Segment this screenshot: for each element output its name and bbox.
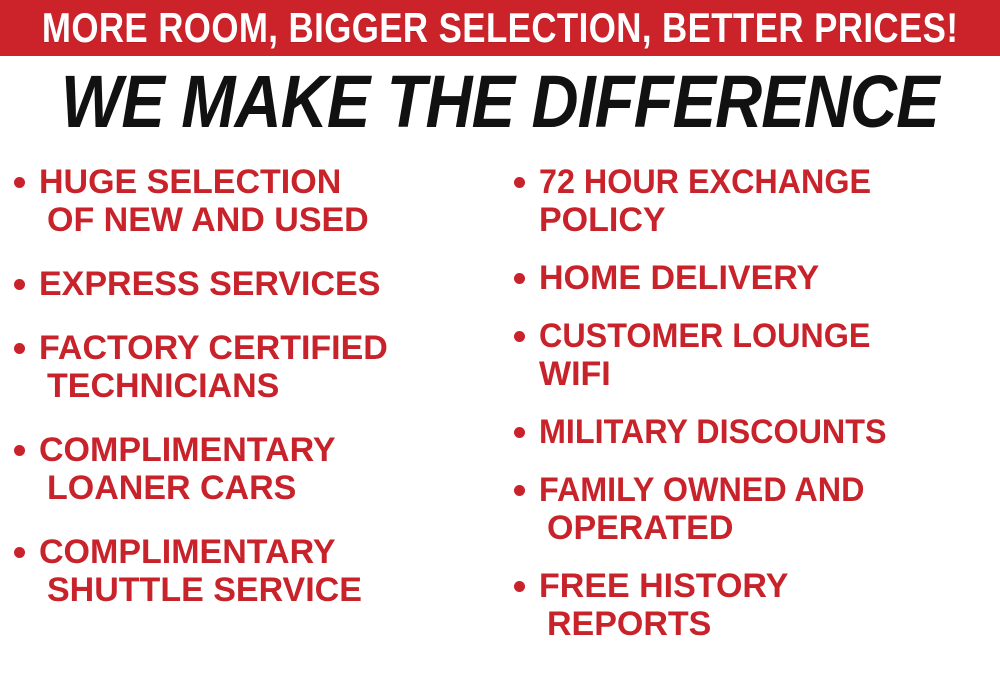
list-item: EXPRESS SERVICES (14, 265, 500, 303)
list-item-text: HOME DELIVERY (539, 259, 819, 297)
promo-banner: MORE ROOM, BIGGER SELECTION, BETTER PRIC… (0, 0, 1000, 56)
list-item-line-2: WIFI (539, 355, 888, 393)
list-item-line-2: REPORTS (539, 605, 788, 643)
list-item: FREE HISTORY REPORTS (514, 567, 1000, 643)
benefits-column-right: 72 HOUR EXCHANGE POLICY HOME DELIVERY CU… (500, 155, 1000, 694)
page-title: WE MAKE THE DIFFERENCE (61, 65, 939, 139)
bullet-dot-icon (514, 177, 525, 188)
list-item: COMPLIMENTARY LOANER CARS (14, 431, 500, 507)
list-item-line-2: OPERATED (539, 509, 882, 547)
list-item-text: FAMILY OWNED AND OPERATED (539, 471, 882, 547)
list-item: HUGE SELECTION OF NEW AND USED (14, 163, 500, 239)
list-item-text: MILITARY DISCOUNTS (539, 413, 905, 451)
list-item-text: EXPRESS SERVICES (39, 265, 380, 303)
list-item-line-2: OF NEW AND USED (39, 201, 369, 239)
bullet-dot-icon (14, 279, 25, 290)
list-item: 72 HOUR EXCHANGE POLICY (514, 163, 1000, 239)
bullet-dot-icon (14, 177, 25, 188)
list-item-line-1: HUGE SELECTION (39, 163, 369, 201)
list-item-line-1: FREE HISTORY (539, 567, 788, 605)
list-item: HOME DELIVERY (514, 259, 1000, 297)
list-item-line-1: HOME DELIVERY (539, 259, 819, 297)
list-item: CUSTOMER LOUNGE WIFI (514, 317, 1000, 393)
bullet-dot-icon (14, 547, 25, 558)
headline-container: WE MAKE THE DIFFERENCE (0, 62, 1000, 142)
list-item-line-2: TECHNICIANS (39, 367, 388, 405)
list-item-line-1: COMPLIMENTARY (39, 533, 362, 571)
bullet-dot-icon (514, 581, 525, 592)
bullet-dot-icon (514, 427, 525, 438)
list-item-line-2: LOANER CARS (39, 469, 336, 507)
list-item: FACTORY CERTIFIED TECHNICIANS (14, 329, 500, 405)
list-item-text: FACTORY CERTIFIED TECHNICIANS (39, 329, 388, 405)
list-item-line-1: FACTORY CERTIFIED (39, 329, 388, 367)
promo-banner-text: MORE ROOM, BIGGER SELECTION, BETTER PRIC… (42, 7, 959, 49)
list-item: COMPLIMENTARY SHUTTLE SERVICE (14, 533, 500, 609)
list-item-line-2: POLICY (539, 201, 889, 239)
bullet-dot-icon (14, 343, 25, 354)
list-item-line-2: SHUTTLE SERVICE (39, 571, 362, 609)
list-item-line-1: COMPLIMENTARY (39, 431, 336, 469)
list-item-text: CUSTOMER LOUNGE WIFI (539, 317, 888, 393)
benefits-columns: HUGE SELECTION OF NEW AND USED EXPRESS S… (0, 155, 1000, 694)
list-item-line-1: CUSTOMER LOUNGE (539, 317, 870, 355)
list-item-text: COMPLIMENTARY LOANER CARS (39, 431, 336, 507)
list-item-text: FREE HISTORY REPORTS (539, 567, 788, 643)
list-item: MILITARY DISCOUNTS (514, 413, 1000, 451)
bullet-dot-icon (14, 445, 25, 456)
list-item-line-1: FAMILY OWNED AND (539, 471, 864, 509)
bullet-dot-icon (514, 273, 525, 284)
list-item-line-1: 72 HOUR EXCHANGE (539, 163, 871, 201)
list-item-text: HUGE SELECTION OF NEW AND USED (39, 163, 369, 239)
benefits-column-left: HUGE SELECTION OF NEW AND USED EXPRESS S… (0, 155, 500, 694)
list-item-text: 72 HOUR EXCHANGE POLICY (539, 163, 889, 239)
list-item-line-1: MILITARY DISCOUNTS (539, 413, 887, 451)
list-item: FAMILY OWNED AND OPERATED (514, 471, 1000, 547)
list-item-text: COMPLIMENTARY SHUTTLE SERVICE (39, 533, 362, 609)
bullet-dot-icon (514, 331, 525, 342)
bullet-dot-icon (514, 485, 525, 496)
list-item-line-1: EXPRESS SERVICES (39, 265, 380, 303)
